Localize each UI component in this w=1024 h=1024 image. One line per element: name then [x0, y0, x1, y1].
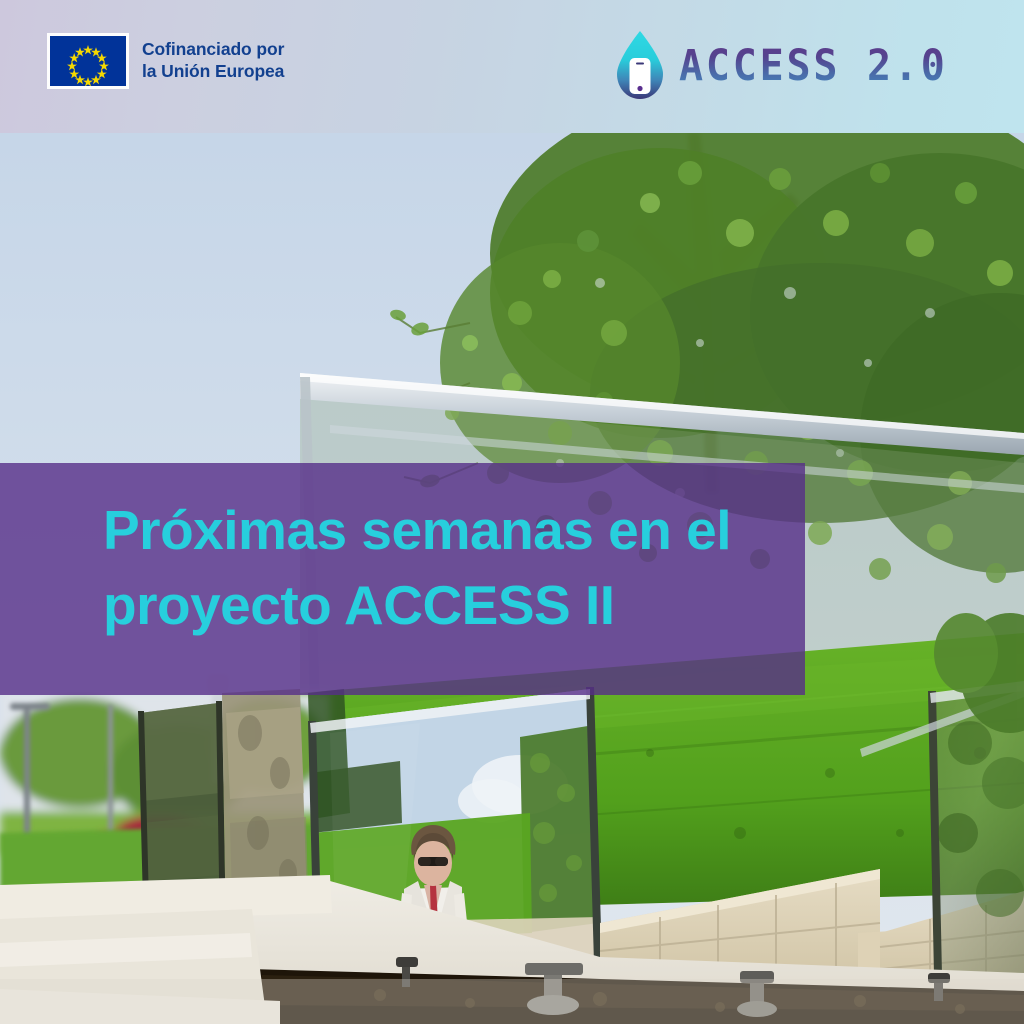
poster-canvas: Próximas semanas en el proyecto ACCESS I… [0, 0, 1024, 1024]
eu-funding-label: Cofinanciado por la Unión Europea [142, 39, 284, 83]
eu-funding-block: Cofinanciado por la Unión Europea [47, 33, 284, 89]
water-drop-smartphone-icon [611, 30, 669, 102]
eu-funding-line-1: Cofinanciado por [142, 39, 284, 61]
eu-funding-line-2: la Unión Europea [142, 61, 284, 83]
page-title: Próximas semanas en el proyecto ACCESS I… [103, 493, 793, 643]
access-logo: ACCESS 2.0 [611, 30, 968, 102]
header-bar: Cofinanciado por la Unión Europea [0, 0, 1024, 133]
title-line-1: Próximas semanas en el [103, 493, 793, 568]
title-banner: Próximas semanas en el proyecto ACCESS I… [0, 463, 805, 695]
european-union-flag-icon [47, 33, 129, 89]
access-wordmark: ACCESS 2.0 [679, 45, 948, 88]
title-line-2: proyecto ACCESS II [103, 568, 793, 643]
